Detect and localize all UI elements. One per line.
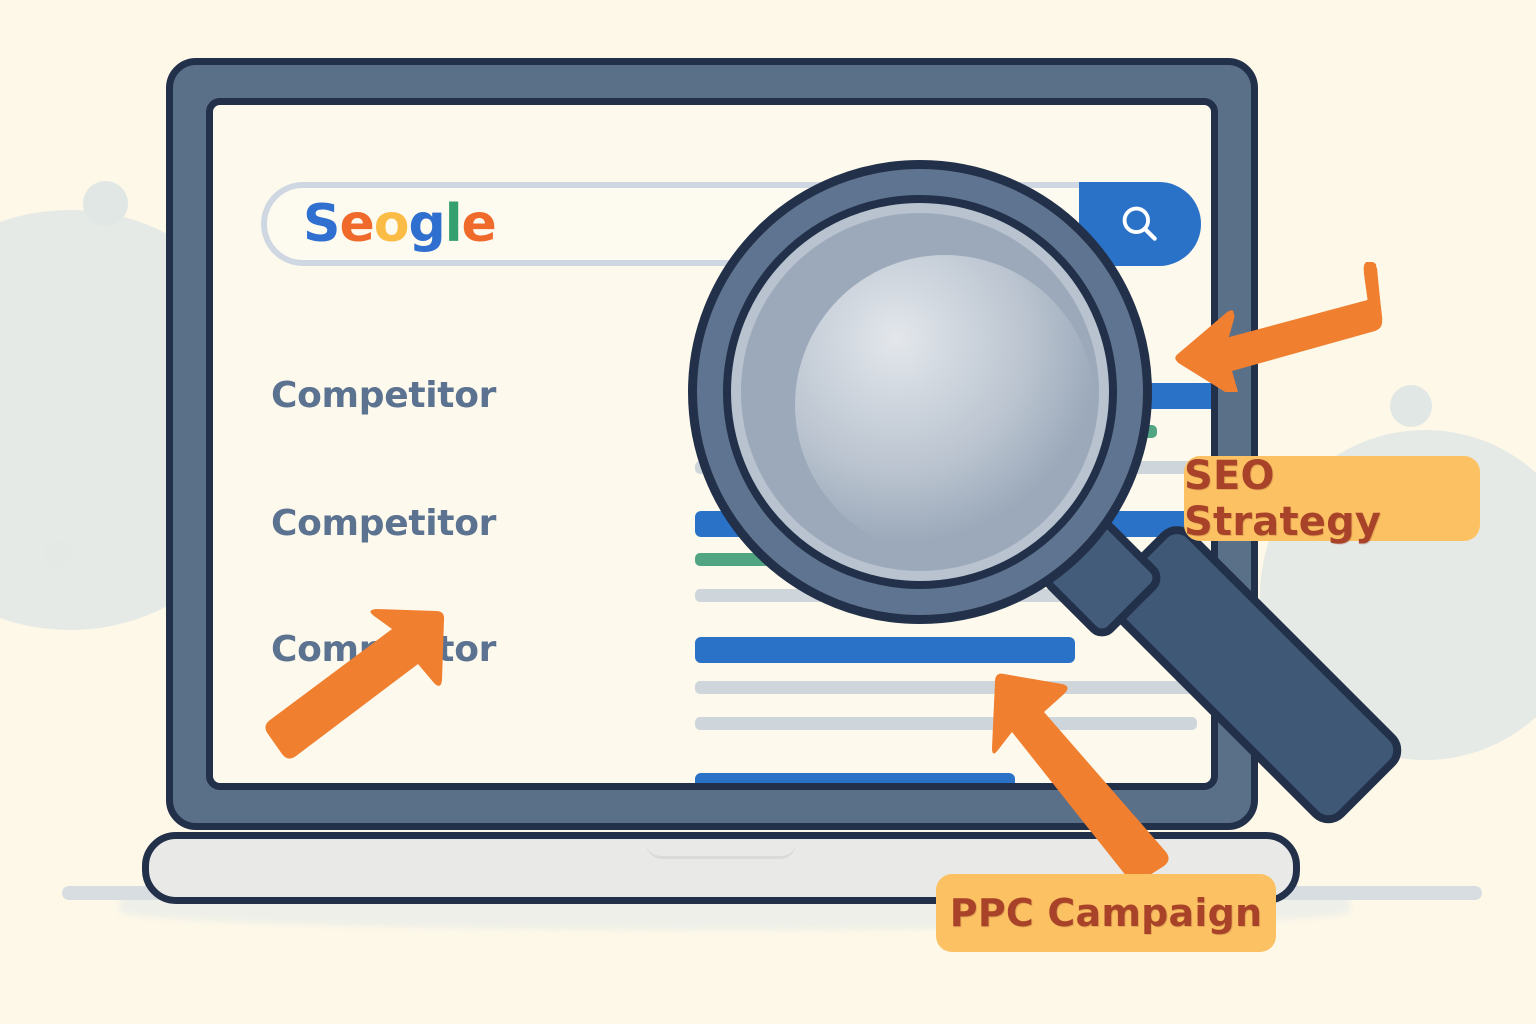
background-circle-small-topleft	[83, 181, 128, 226]
result-title-bar-3	[695, 637, 1075, 663]
logo-letter-s: S	[303, 198, 339, 250]
laptop-base-notch	[646, 843, 796, 859]
result-text-bar-1	[695, 461, 1218, 474]
search-bar[interactable]: Seogle	[261, 182, 1201, 266]
seogle-logo: Seogle	[303, 198, 496, 250]
badge-ppc-campaign[interactable]: PPC Campaign	[936, 874, 1276, 952]
arrow-to-seo-icon	[1168, 262, 1384, 392]
logo-letter-o: o	[374, 198, 409, 250]
result-title-bar-1	[695, 383, 1218, 409]
badge-seo-strategy-label: SEO Strategy	[1184, 453, 1480, 545]
badge-ppc-campaign-label: PPC Campaign	[950, 891, 1262, 935]
result-title-bar-2	[695, 511, 1218, 537]
logo-letter-e2: e	[462, 198, 496, 250]
background-circle-small-left	[44, 540, 72, 568]
arrow-to-ppc-icon	[992, 666, 1172, 886]
badge-seo-strategy[interactable]: SEO Strategy	[1184, 456, 1480, 541]
competitor-label-2: Competitor	[271, 503, 496, 544]
result-url-bar-1	[695, 425, 1157, 438]
search-submit-button[interactable]	[1079, 182, 1201, 266]
logo-letter-e1: e	[339, 198, 373, 250]
logo-letter-l: l	[445, 198, 462, 250]
result-text-bar-2	[695, 589, 1218, 602]
result-url-bar-2	[695, 553, 1173, 566]
search-icon	[1118, 202, 1162, 246]
logo-letter-g: g	[408, 198, 444, 250]
background-circle-small-right	[1390, 385, 1432, 427]
illustration-canvas: Seogle Competitor Comp	[0, 0, 1536, 1024]
competitor-label-1: Competitor	[271, 375, 496, 416]
arrow-to-results-icon	[258, 608, 458, 768]
result-title-bar-4	[695, 773, 1015, 790]
